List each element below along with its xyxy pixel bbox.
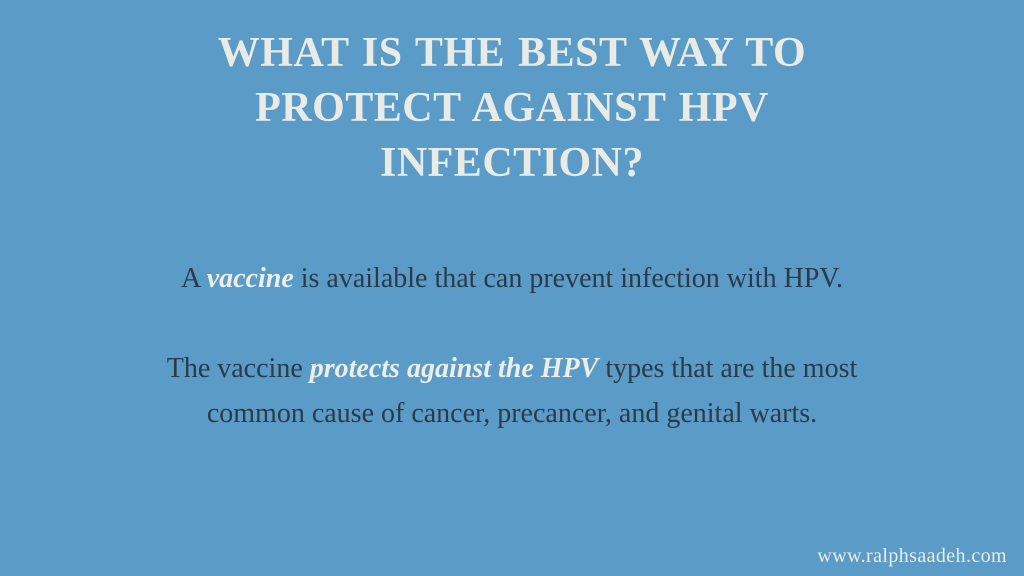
- paragraph-two-emphasis: protects against the HPV: [310, 353, 599, 384]
- slide-canvas: WHAT IS THE BEST WAY TO PROTECT AGAINST …: [0, 0, 1024, 576]
- body-paragraph-one: A vaccine is available that can prevent …: [0, 256, 1024, 301]
- body-paragraph-two: The vaccine protects against the HPV typ…: [0, 346, 1024, 436]
- title-block: WHAT IS THE BEST WAY TO PROTECT AGAINST …: [0, 26, 1024, 191]
- page-title: WHAT IS THE BEST WAY TO PROTECT AGAINST …: [0, 26, 1024, 191]
- body-block: A vaccine is available that can prevent …: [0, 256, 1024, 436]
- paragraph-one-lead: A: [181, 263, 207, 294]
- footer-watermark: www.ralphsaadeh.com: [817, 545, 1007, 568]
- paragraph-one-tail: is available that can prevent infection …: [294, 263, 843, 294]
- paragraph-two-lead: The vaccine: [167, 353, 310, 384]
- paragraph-one-emphasis: vaccine: [207, 263, 294, 294]
